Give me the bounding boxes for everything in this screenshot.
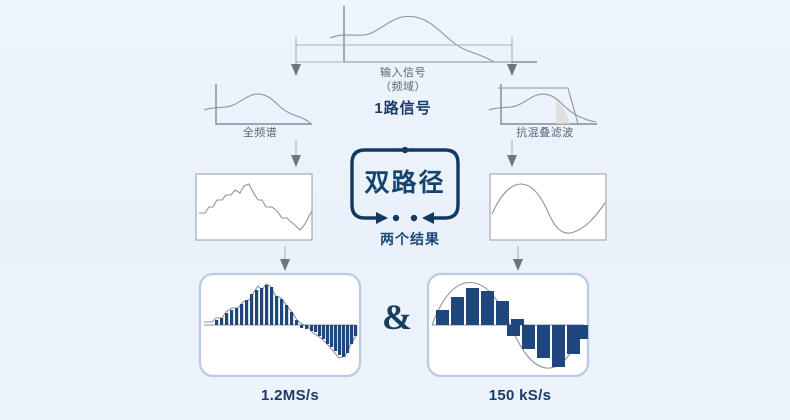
full-spectrum-chart [204,84,312,124]
input-signal-caption-line1: 输入信号 [338,66,468,80]
dual-path-badge-title: 双路径 [347,163,463,199]
one-channel-headline: 1路信号 [338,97,468,118]
full-spectrum-caption: 全频谱 [205,126,315,140]
result-boxes-layer [0,0,790,420]
arrow-noisy-to-highrate [280,246,290,271]
anti-aliasing-filter-caption: 抗混叠滤波 [480,126,610,140]
low-sample-rate-label: 150 kS/s [445,387,595,404]
anti-aliasing-filter-chart [489,84,597,124]
arrow-fullspectrum-to-noisy [291,140,301,167]
input-signal-caption-line2: （频域） [338,80,468,94]
arrow-filter-to-sine [507,140,517,167]
high-sample-rate-label: 1.2MS/s [215,387,365,404]
diagram-graphics-layer [0,0,790,420]
two-results-label: 两个结果 [350,229,470,249]
input-signal-chart [330,6,537,62]
arrow-sine-to-lowrate [513,246,523,271]
diagram-canvas: 输入信号 （频域） 1路信号 全频谱 抗混叠滤波 双路径 两个结果 & 1.2M… [0,0,790,420]
ampersand-symbol: & [377,296,417,338]
noisy-waveform-box [196,174,312,240]
high-rate-waveform-box [200,274,360,376]
low-rate-waveform-box [428,274,588,376]
sine-waveform-box [490,174,606,240]
